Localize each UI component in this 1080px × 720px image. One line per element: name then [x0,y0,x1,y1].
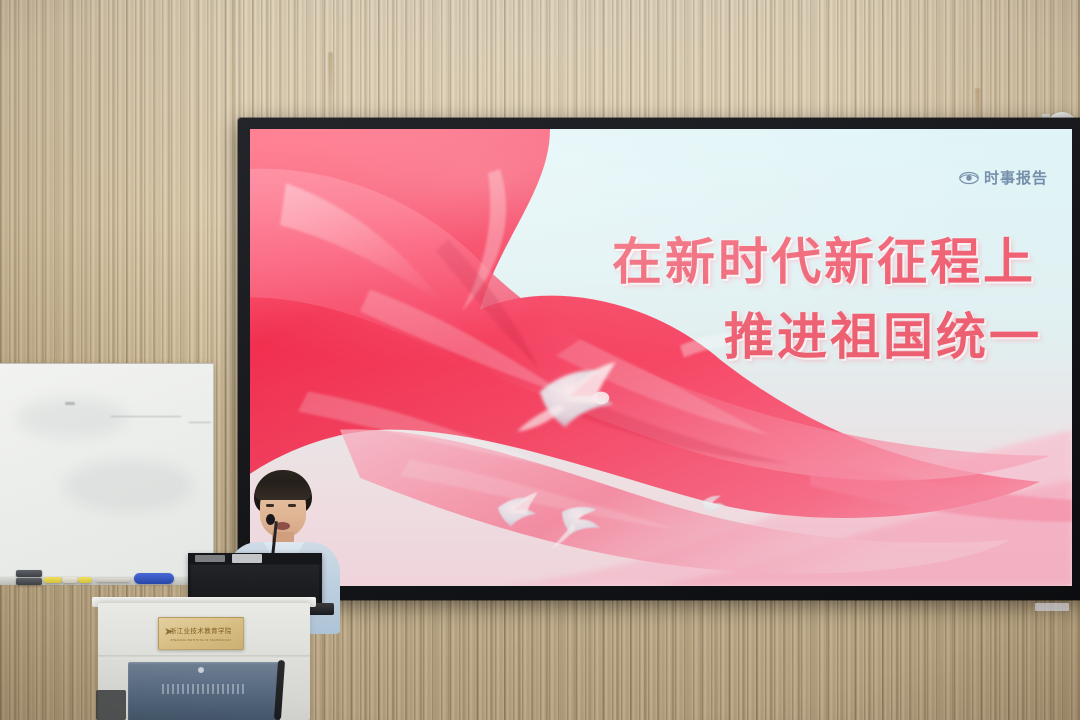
projection-screen-frame: 时事报告 在新时代新征程上 推进祖国统一 [238,118,1080,600]
speaker-eye-left [266,504,274,507]
podium-plaque-en: ZHEJIANG INSTITUTE OF TECHNOLOGY [170,638,231,642]
podium-plaque-cn: 浙江业技术教育学院 [170,626,232,635]
slide-title-line-1: 在新时代新征程上 [612,233,1036,292]
microphone-head-icon [266,514,275,525]
whiteboard-mark [111,416,181,417]
eye-logo-icon [959,171,979,185]
marker-white[interactable] [62,577,78,583]
podium-edge [98,655,310,659]
whiteboard-mark [189,422,211,423]
podium-plaque: ➤ 浙江业技术教育学院 ZHEJIANG INSTITUTE OF TECHNO… [158,617,244,650]
whiteboard-eraser[interactable] [16,570,42,577]
laptop-sticker [232,554,262,563]
speaker-eye-right [288,504,296,507]
podium-power-button[interactable] [198,667,204,673]
laptop-brand-logo [195,555,225,562]
marker-yellow[interactable] [78,577,92,583]
whiteboard-mark [65,402,75,405]
marker-yellow[interactable] [44,577,62,583]
whiteboard [0,363,214,577]
podium-vent-grille [162,684,244,694]
slide-logo: 时事报告 [959,167,1048,188]
wall-nick [328,52,333,122]
marker-blue[interactable] [134,573,174,584]
speaker-hair-front [255,480,311,500]
whiteboard-smudge [63,460,193,512]
slide-logo-text: 时事报告 [984,167,1048,188]
screen-brand-tag [1035,603,1069,611]
podium-shadow-block [96,690,126,720]
projection-screen: 时事报告 在新时代新征程上 推进祖国统一 [250,129,1072,586]
whiteboard-eraser[interactable] [16,578,42,585]
slide-title-line-2: 推进祖国统一 [612,308,1042,367]
slide-title: 在新时代新征程上 推进祖国统一 [612,233,1036,367]
lecture-hall-scene: 时事报告 在新时代新征程上 推进祖国统一 [0,0,1080,720]
podium-control-panel[interactable] [128,662,280,720]
marker-pointer[interactable] [96,578,130,582]
